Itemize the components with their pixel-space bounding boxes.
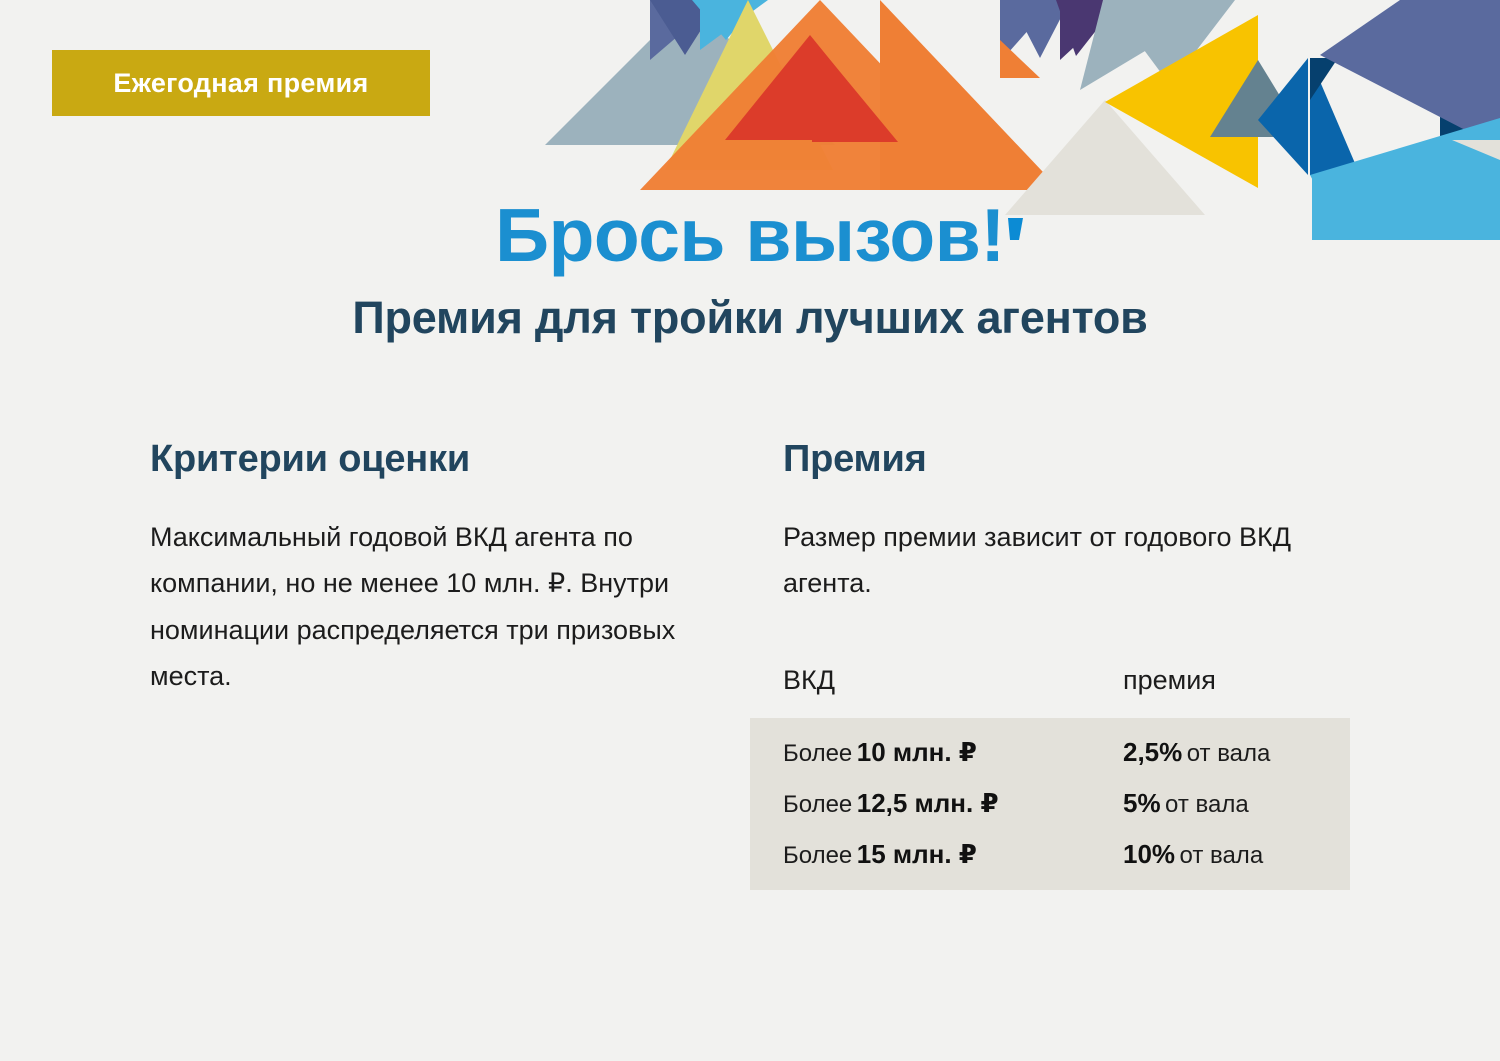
triangle-steel-gray-3 [1107, 0, 1235, 85]
triangle-teal-gray-1 [1210, 60, 1305, 137]
rate-table-header-premium: премия [1123, 665, 1350, 696]
rate-threshold-prefix: Более [783, 842, 852, 869]
rate-percent-suffix: от вала [1187, 740, 1271, 767]
criteria-column: Критерии оценки Максимальный годовой ВКД… [150, 440, 730, 700]
triangle-sky-blue-1 [692, 0, 760, 40]
triangle-red-1 [725, 35, 895, 140]
triangle-purple-2 [1060, 0, 1125, 60]
triangle-slate-blue-3 [1000, 0, 1055, 62]
criteria-heading: Критерии оценки [150, 440, 730, 478]
rate-percent-cell: 5% от вала [1123, 788, 1350, 819]
rate-percent-value: 2,5% [1123, 737, 1182, 767]
triangle-steel-gray-2 [1080, 0, 1230, 90]
rate-percent-value: 10% [1123, 839, 1175, 869]
triangle-sky-blue-2 [700, 0, 768, 50]
triangle-orange-2 [880, 0, 1060, 190]
triangle-steel-gray-1 [545, 0, 835, 145]
table-row: Более 12,5 млн. ₽ 5% от вала [783, 788, 1350, 839]
triangle-slate-blue-6 [1430, 10, 1500, 160]
triangle-orange-1 [640, 0, 1000, 190]
triangle-slate-blue-1 [650, 0, 720, 60]
rate-threshold-value: 10 млн. ₽ [857, 737, 977, 767]
triangle-slate-blue-5 [1320, 0, 1500, 148]
page-subtitle: Премия для тройки лучших агентов [0, 295, 1500, 340]
rate-table-body: Более 10 млн. ₽ 2,5% от вала Более 12,5 … [783, 737, 1350, 890]
triangle-navy-dark-1 [1440, 85, 1500, 145]
page-title: Брось вызов! [0, 198, 1500, 273]
slide-canvas: Ежегодная премия Брось вызов! Премия для… [0, 0, 1500, 1061]
triangle-cream-2 [1452, 140, 1500, 160]
rate-percent-cell: 2,5% от вала [1123, 737, 1350, 768]
rate-table-header-row: ВКД премия [783, 665, 1350, 715]
rate-threshold-prefix: Более [783, 740, 852, 767]
triangle-yellow-1 [1105, 15, 1258, 188]
annual-award-badge: Ежегодная премия [52, 50, 430, 116]
rate-percent-value: 5% [1123, 788, 1161, 818]
triangle-red-2 [812, 38, 898, 142]
rate-threshold-cell: Более 15 млн. ₽ [783, 839, 1123, 870]
rate-threshold-value: 12,5 млн. ₽ [857, 788, 999, 818]
rate-threshold-value: 15 млн. ₽ [857, 839, 977, 869]
triangle-navy-dark-2 [1310, 58, 1338, 100]
award-body: Размер премии зависит от годового ВКД аг… [783, 514, 1383, 607]
rate-percent-suffix: от вала [1165, 791, 1249, 818]
triangle-slate-blue-2 [650, 0, 720, 55]
rate-threshold-cell: Более 10 млн. ₽ [783, 737, 1123, 768]
triangle-deep-blue-1 [1258, 58, 1308, 175]
triangle-orange-3 [1000, 40, 1040, 78]
criteria-body: Максимальный годовой ВКД агента по компа… [150, 514, 730, 700]
award-column: Премия Размер премии зависит от годового… [783, 440, 1383, 607]
triangle-slate-blue-4 [1010, 0, 1070, 58]
rate-threshold-cell: Более 12,5 млн. ₽ [783, 788, 1123, 819]
annual-award-badge-label: Ежегодная премия [113, 68, 368, 99]
triangle-khaki-1 [665, 0, 833, 170]
award-heading: Премия [783, 440, 1383, 478]
table-row: Более 10 млн. ₽ 2,5% от вала [783, 737, 1350, 788]
table-row: Более 15 млн. ₽ 10% от вала [783, 839, 1350, 890]
title-block: Брось вызов! Премия для тройки лучших аг… [0, 198, 1500, 340]
rate-table-header-vkd: ВКД [783, 665, 1123, 696]
triangle-purple-1 [1056, 0, 1120, 56]
rate-percent-cell: 10% от вала [1123, 839, 1350, 870]
triangle-deep-blue-2 [1310, 58, 1360, 175]
rate-threshold-prefix: Более [783, 791, 852, 818]
rate-percent-suffix: от вала [1180, 842, 1264, 869]
